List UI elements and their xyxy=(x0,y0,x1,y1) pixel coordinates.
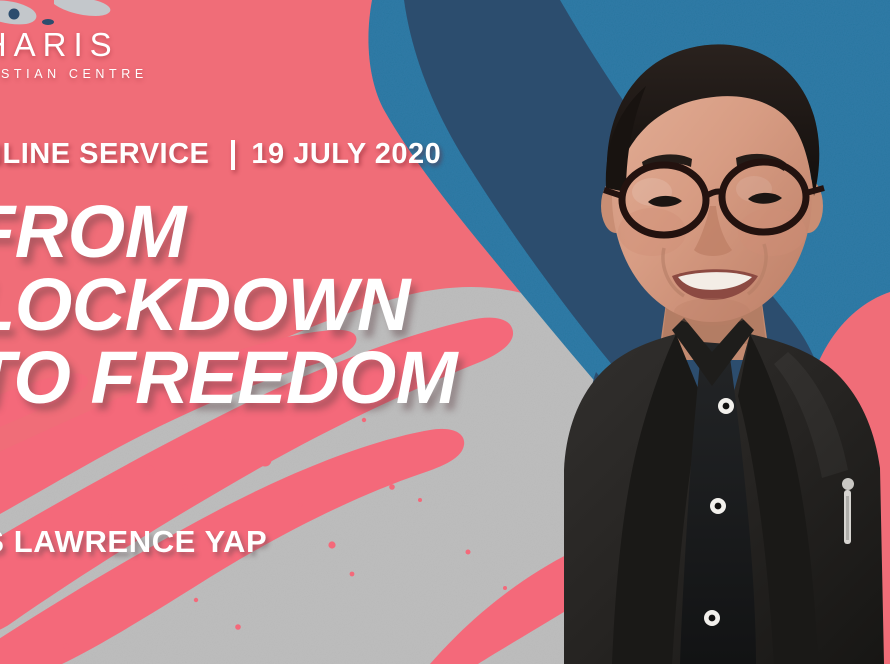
sermon-title: FROM LOCKDOWN TO FREEDOM xyxy=(0,196,457,413)
service-date: 19 JULY 2020 xyxy=(251,138,441,171)
service-label: ONLINE SERVICE xyxy=(0,138,209,171)
portrait-jacket xyxy=(564,318,884,664)
speaker-portrait xyxy=(560,0,890,664)
logo-name: CHARIS xyxy=(0,28,148,61)
sermon-title-line-2: LOCKDOWN xyxy=(0,269,457,340)
portrait-face xyxy=(560,44,824,360)
logo: CHARIS CHRISTIAN CENTRE xyxy=(0,28,148,81)
service-header: ONLINE SERVICE 19 JULY 2020 xyxy=(0,138,441,171)
sermon-title-line-3: TO FREEDOM xyxy=(0,342,457,413)
logo-subtitle: CHRISTIAN CENTRE xyxy=(0,68,148,81)
sermon-title-card: CHARIS CHRISTIAN CENTRE ONLINE SERVICE 1… xyxy=(0,0,890,664)
sermon-title-line-1: FROM xyxy=(0,196,457,267)
speaker-name: PS LAWRENCE YAP xyxy=(0,524,267,560)
header-divider xyxy=(231,140,235,170)
